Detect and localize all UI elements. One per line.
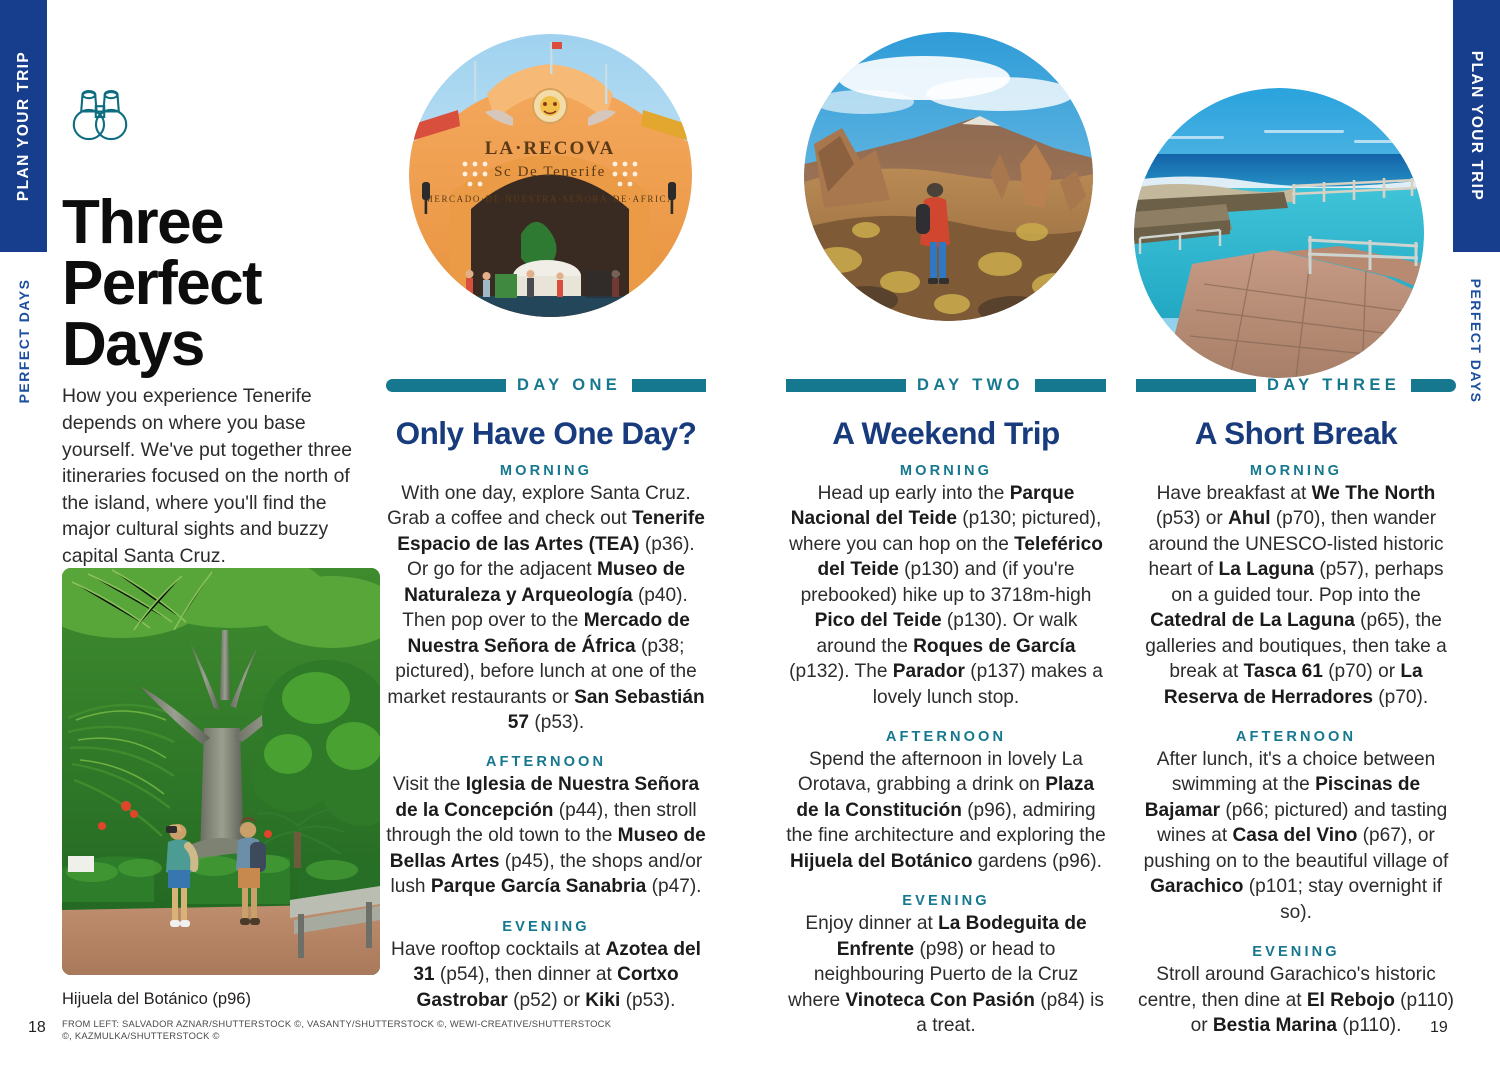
day-bar-left-segment [386, 379, 506, 392]
day-two-divider: DAY TWO [786, 375, 1106, 396]
svg-text:MERCADO·DE·NUESTRA·SEÑORA·DE·A: MERCADO·DE·NUESTRA·SEÑORA·DE·AFRICA [425, 194, 676, 204]
chapter-tab-left: PLAN YOUR TRIP [0, 0, 47, 252]
day-three-morning-body: Have breakfast at We The North (p53) or … [1136, 481, 1456, 710]
day-two-label: DAY TWO [906, 376, 1035, 395]
day-column-two: DAY TWO A Weekend Trip MORNING Head up e… [786, 375, 1106, 1039]
page-number-right: 19 [1430, 1019, 1448, 1037]
day-bar-left-segment [1136, 379, 1256, 392]
photo-hijuela-del-botanico [62, 568, 380, 975]
day-bar-right-segment [1411, 379, 1456, 392]
day-two-afternoon-body: Spend the afternoon in lovely La Orotava… [786, 747, 1106, 874]
day-three-label: DAY THREE [1256, 376, 1411, 395]
day-two-morning-label: MORNING [786, 463, 1106, 479]
day-bar-left-segment [786, 379, 906, 392]
day-one-morning-body: With one day, explore Santa Cruz. Grab a… [386, 481, 706, 736]
day-two-afternoon-label: AFTERNOON [786, 729, 1106, 745]
svg-text:Sc De Tenerife: Sc De Tenerife [494, 164, 606, 180]
svg-text:LA·RECOVA: LA·RECOVA [485, 138, 616, 159]
page-number-left: 18 [28, 1019, 46, 1037]
day-three-morning-label: MORNING [1136, 463, 1456, 479]
day-one-afternoon-label: AFTERNOON [386, 754, 706, 770]
section-tab-right-label: PERFECT DAYS [1453, 256, 1500, 426]
day-one-heading: Only Have One Day? [386, 416, 706, 451]
section-tab-left: PERFECT DAYS [0, 256, 47, 426]
day-one-evening-label: EVENING [386, 919, 706, 935]
day-three-heading: A Short Break [1136, 416, 1456, 451]
photo-mercado-nuestra-senora-de-africa: LA·RECOVA Sc De Tenerife MERCADO·DE·NUES… [409, 34, 692, 317]
day-three-afternoon-body: After lunch, it's a choice between swimm… [1136, 747, 1456, 925]
day-one-evening-body: Have rooftop cocktails at Azotea del 31 … [386, 937, 706, 1013]
photo-caption: Hijuela del Botánico (p96) [62, 990, 251, 1009]
day-one-divider: DAY ONE [386, 375, 706, 396]
day-three-evening-body: Stroll around Garachico's historic centr… [1136, 962, 1456, 1038]
day-column-one: DAY ONE Only Have One Day? MORNING With … [386, 375, 706, 1013]
day-three-afternoon-label: AFTERNOON [1136, 729, 1456, 745]
day-column-three: DAY THREE A Short Break MORNING Have bre… [1136, 375, 1456, 1039]
day-three-divider: DAY THREE [1136, 375, 1456, 396]
photo-credits: FROM LEFT: SALVADOR AZNAR/SHUTTERSTOCK ©… [62, 1018, 622, 1043]
binoculars-icon [62, 88, 138, 144]
chapter-tab-right-label: PLAN YOUR TRIP [1453, 0, 1500, 252]
day-two-evening-label: EVENING [786, 893, 1106, 909]
chapter-tab-right: PLAN YOUR TRIP [1453, 0, 1500, 252]
photo-piscinas-de-bajamar [1134, 88, 1424, 378]
photo-parque-nacional-del-teide [804, 32, 1093, 321]
day-one-morning-label: MORNING [386, 463, 706, 479]
section-tab-left-label: PERFECT DAYS [0, 256, 47, 426]
intro-paragraph: How you experience Tenerife depends on w… [62, 383, 370, 569]
page-title: Three Perfect Days [62, 192, 382, 376]
day-three-evening-label: EVENING [1136, 944, 1456, 960]
day-one-label: DAY ONE [506, 376, 632, 395]
day-two-heading: A Weekend Trip [786, 416, 1106, 451]
section-tab-right: PERFECT DAYS [1453, 256, 1500, 426]
day-two-evening-body: Enjoy dinner at La Bodeguita de Enfrente… [786, 911, 1106, 1038]
day-bar-right-segment [1035, 379, 1106, 392]
chapter-tab-left-label: PLAN YOUR TRIP [0, 0, 47, 252]
day-one-afternoon-body: Visit the Iglesia de Nuestra Señora de l… [386, 772, 706, 899]
day-two-morning-body: Head up early into the Parque Nacional d… [786, 481, 1106, 710]
day-bar-right-segment [632, 379, 706, 392]
